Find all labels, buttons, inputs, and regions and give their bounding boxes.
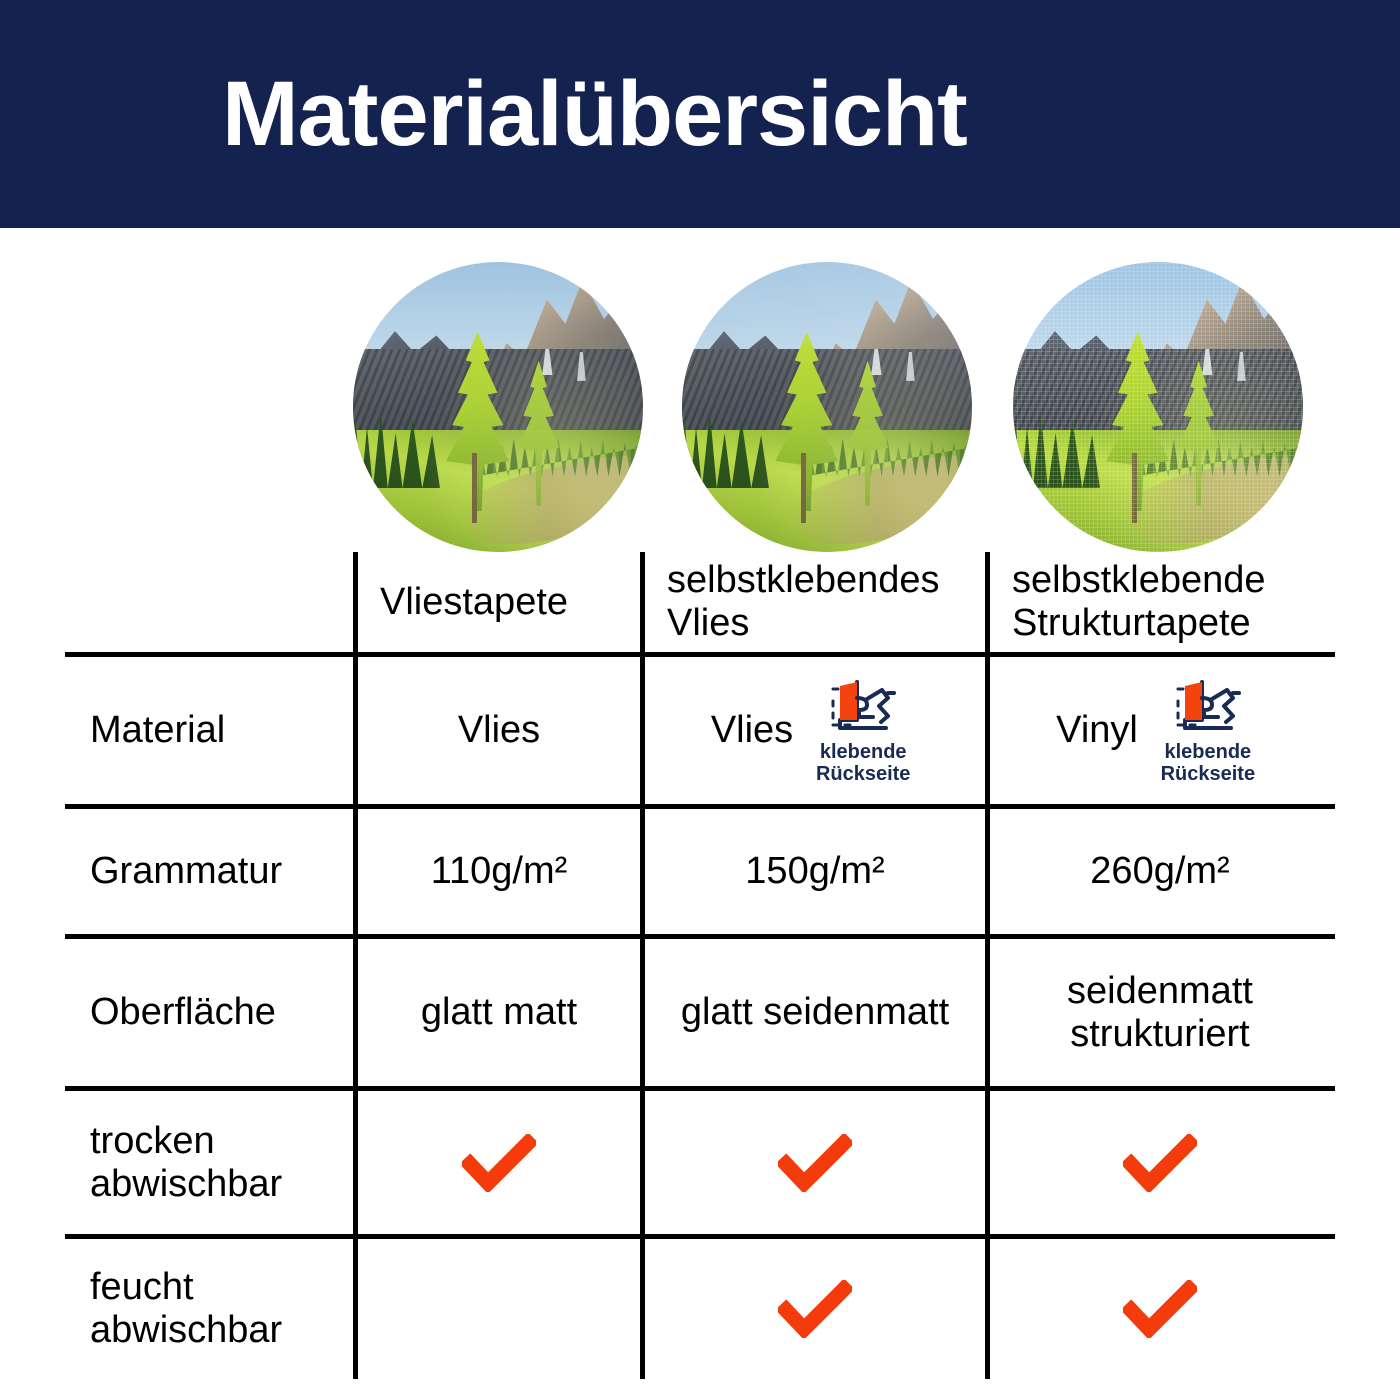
badge-peel-corner [1185,682,1202,720]
material-comparison-table: Vliestapete selbstklebendes Vlies selbst… [65,552,1335,1379]
swatch-vliestapete[interactable] [353,262,643,552]
cell-grammatur-selbstklebende-strukturtapete: 260g/m² [985,809,1330,934]
column-header-label: selbstklebendes Vlies [667,559,985,644]
cell-material-selbstklebende-strukturtapete: Vinyl klebendeRückseite [985,657,1330,804]
material-swatch-row [0,262,1400,552]
cell-trocken-selbstklebendes-vlies [640,1091,985,1234]
table-header-row: Vliestapete selbstklebendes Vlies selbst… [65,552,1335,657]
cell-feucht-vliestapete [353,1239,640,1379]
row-label-oberflaeche: Oberfläche [65,939,353,1086]
badge-hand [857,698,873,717]
adhesive-back-badge: klebendeRückseite [807,676,919,786]
cell-grammatur-vliestapete: 110g/m² [353,809,640,934]
checkmark-icon [1123,1134,1197,1192]
table-row: trocken abwischbar [65,1091,1335,1239]
column-header-label: Vliestapete [380,581,568,624]
column-header-selbstklebendes-vlies: selbstklebendes Vlies [640,552,985,652]
swatch-selbstklebende-strukturtapete[interactable] [1013,262,1303,552]
adhesive-back-badge: klebendeRückseite [1152,676,1264,786]
row-label-trocken-abwischbar: trocken abwischbar [65,1091,353,1234]
cell-feucht-selbstklebende-strukturtapete [985,1239,1330,1379]
page-title: Materialübersicht [222,68,967,160]
cell-oberflaeche-vliestapete: glatt matt [353,939,640,1086]
photo-sun-haze [353,262,643,552]
row-label-grammatur: Grammatur [65,809,353,934]
cell-value: glatt seidenmatt [681,991,949,1034]
cell-value: 260g/m² [1090,850,1229,893]
cell-value: 110g/m² [431,850,568,893]
cell-value: seidenmatt strukturiert [990,970,1330,1055]
cell-value: Vinyl [1056,709,1138,752]
checkmark-icon [778,1280,852,1338]
table-row: Grammatur 110g/m² 150g/m² 260g/m² [65,809,1335,939]
cell-value: Vlies [711,709,793,752]
page-header: Materialübersicht [0,0,1400,228]
row-label-feucht-abwischbar: feucht abwischbar [65,1239,353,1379]
cell-grammatur-selbstklebendes-vlies: 150g/m² [640,809,985,934]
swatch-selbstklebendes-vlies[interactable] [682,262,972,552]
cell-feucht-selbstklebendes-vlies [640,1239,985,1379]
badge-label: klebendeRückseite [816,741,911,786]
checkmark-icon [778,1134,852,1192]
cell-oberflaeche-selbstklebende-strukturtapete: seidenmatt strukturiert [985,939,1330,1086]
column-header-selbstklebende-strukturtapete: selbstklebende Strukturtapete [985,552,1330,652]
cell-value: Vlies [458,709,540,752]
cell-value: 150g/m² [745,850,884,893]
peel-adhesive-back-icon [826,676,900,738]
badge-hand [1202,698,1218,717]
cell-value: glatt matt [421,991,577,1034]
cell-material-vliestapete: Vlies [353,657,640,804]
table-corner-cell [65,552,353,652]
table-row: Oberfläche glatt matt glatt seidenmatt s… [65,939,1335,1091]
cell-material-selbstklebendes-vlies: Vlies klebendeRückseite [640,657,985,804]
badge-label: klebendeRückseite [1161,741,1256,786]
alpine-landscape-photo [353,262,643,552]
table-row: Material Vlies Vlies [65,657,1335,809]
column-header-label: selbstklebende Strukturtapete [1012,559,1330,644]
cell-oberflaeche-selbstklebendes-vlies: glatt seidenmatt [640,939,985,1086]
cell-trocken-vliestapete [353,1091,640,1234]
column-header-vliestapete: Vliestapete [353,552,640,652]
row-label-material: Material [65,657,353,804]
cell-trocken-selbstklebende-strukturtapete [985,1091,1330,1234]
table-row: feucht abwischbar [65,1239,1335,1379]
badge-peel-corner [840,682,857,720]
alpine-landscape-photo [1013,262,1303,552]
peel-adhesive-back-icon [1171,676,1245,738]
alpine-landscape-photo [682,262,972,552]
empty-value [499,1309,500,1310]
structure-texture-overlay [1013,262,1303,552]
checkmark-icon [462,1134,536,1192]
checkmark-icon [1123,1280,1197,1338]
satin-finish-overlay [682,262,972,552]
